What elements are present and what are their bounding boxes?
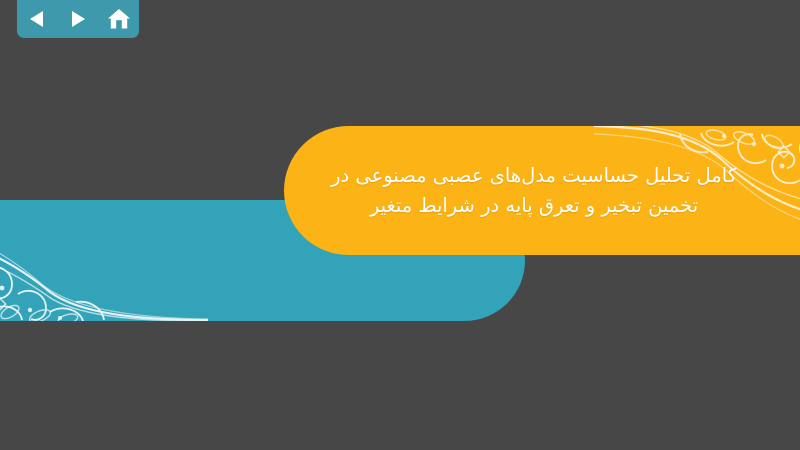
previous-button[interactable] — [22, 6, 52, 32]
slide-title: کامل تحلیل حساسیت مدل‌های عصبی مصنوعی در… — [319, 161, 749, 220]
slide-title-text: کامل تحلیل حساسیت مدل‌های عصبی مصنوعی در… — [331, 164, 737, 217]
teal-arabesque-ornament-icon — [0, 200, 210, 321]
presentation-slide: کامل تحلیل حساسیت مدل‌های عصبی مصنوعی در… — [0, 0, 800, 450]
navigation-bar — [17, 0, 139, 38]
home-icon — [107, 8, 131, 30]
triangle-left-icon — [28, 9, 46, 29]
next-button[interactable] — [63, 6, 93, 32]
orange-title-panel: کامل تحلیل حساسیت مدل‌های عصبی مصنوعی در… — [284, 126, 800, 255]
home-button[interactable] — [104, 6, 134, 32]
triangle-right-icon — [69, 9, 87, 29]
